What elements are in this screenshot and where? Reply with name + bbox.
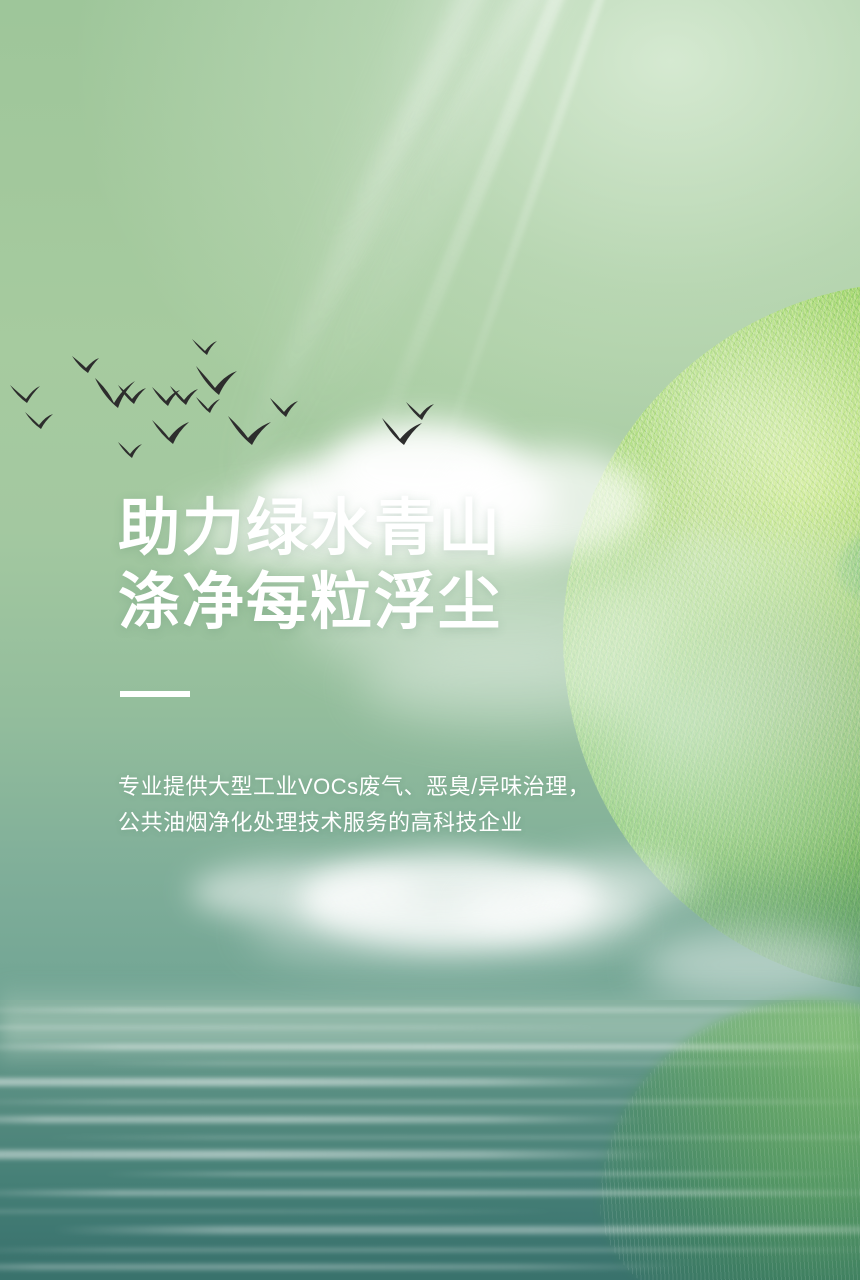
eco-banner: 助力绿水青山 涤净每粒浮尘 专业提供大型工业VOCs废气、恶臭/异味治理， 公共… <box>0 0 860 1280</box>
title-divider <box>120 691 190 697</box>
subtitle: 专业提供大型工业VOCs废气、恶臭/异味治理， 公共油烟净化处理技术服务的高科技… <box>118 769 590 841</box>
subtitle-line-2: 公共油烟净化处理技术服务的高科技企业 <box>118 805 590 841</box>
banner-content: 助力绿水青山 涤净每粒浮尘 专业提供大型工业VOCs废气、恶臭/异味治理， 公共… <box>0 0 860 1280</box>
headline-line-2: 涤净每粒浮尘 <box>118 566 502 640</box>
headline-line-1: 助力绿水青山 <box>118 492 502 566</box>
subtitle-line-1: 专业提供大型工业VOCs废气、恶臭/异味治理， <box>118 769 590 805</box>
page-title: 助力绿水青山 涤净每粒浮尘 <box>118 492 502 640</box>
